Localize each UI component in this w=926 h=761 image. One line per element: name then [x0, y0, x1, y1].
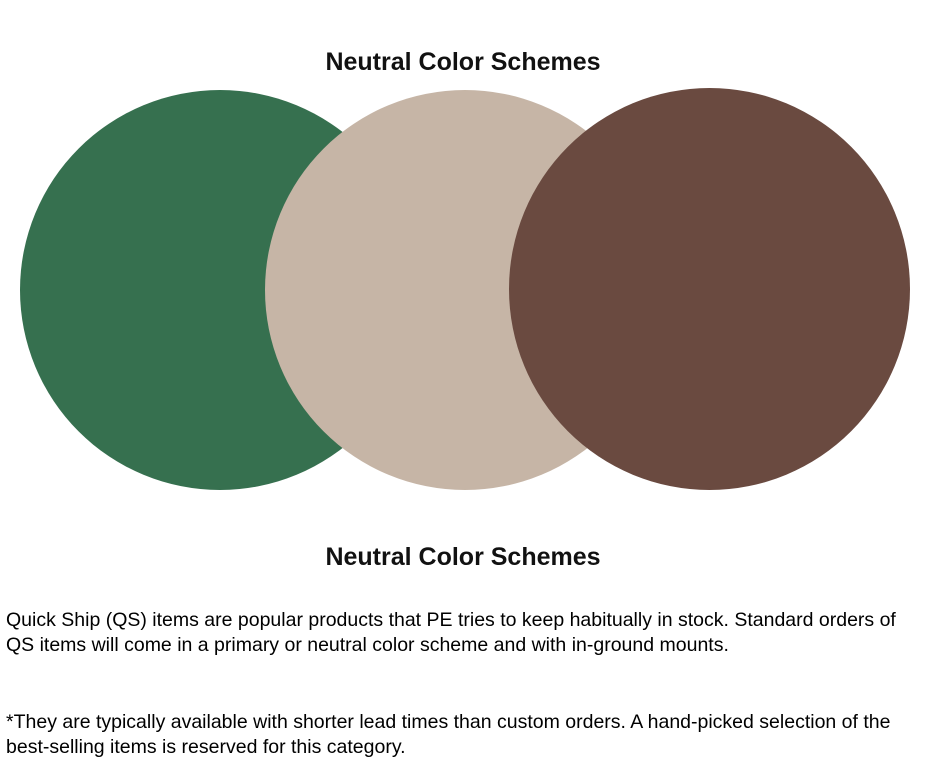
color-swatch-cluster — [0, 70, 926, 510]
page-title-bottom: Neutral Color Schemes — [0, 542, 926, 572]
description-paragraph-footnote: *They are typically available with short… — [6, 710, 902, 761]
color-swatch-brown[interactable] — [509, 88, 910, 490]
description-paragraph-primary: Quick Ship (QS) items are popular produc… — [6, 608, 902, 659]
